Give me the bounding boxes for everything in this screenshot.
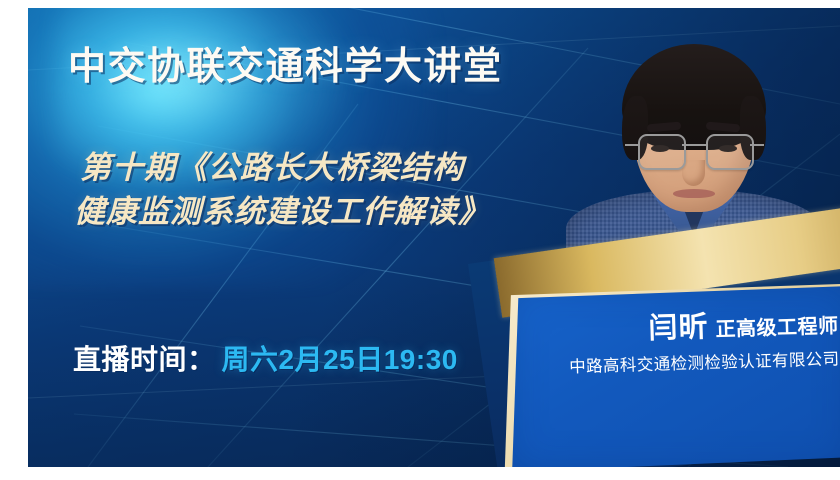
- live-time-label: 直播时间：: [73, 344, 216, 375]
- live-time-value: 周六2月25日19:30: [222, 344, 458, 375]
- speaker-role: 正高级工程师: [715, 315, 839, 341]
- episode-subtitle: 第十期《公路长大桥梁结构 健康监测系统建设工作解读》: [80, 146, 600, 234]
- portrait-mouth: [673, 189, 715, 198]
- panel-text-group: 闫昕正高级工程师 中路高科交通检测检验认证有限公司: [518, 293, 840, 463]
- glasses-lens-right-icon: [706, 134, 754, 170]
- episode-subtitle-line-1: 第十期《公路长大桥梁结构: [80, 146, 600, 190]
- poster-canvas: 中交协联交通科学大讲堂 第十期《公路长大桥梁结构 健康监测系统建设工作解读》 直…: [0, 0, 840, 480]
- page-title: 中交协联交通科学大讲堂: [68, 35, 503, 90]
- webinar-poster: 中交协联交通科学大讲堂 第十期《公路长大桥梁结构 健康监测系统建设工作解读》 直…: [28, 8, 840, 467]
- glasses-lens-left-icon: [638, 134, 686, 170]
- speaker-info-panel: 闫昕正高级工程师 中路高科交通检测检验认证有限公司: [500, 284, 840, 467]
- live-time: 直播时间：周六2月25日19:30: [73, 338, 458, 378]
- glasses-temple-right-icon: [750, 144, 764, 146]
- speaker-name-row: 闫昕正高级工程师: [518, 299, 840, 351]
- speaker-name: 闫昕: [648, 311, 709, 345]
- episode-subtitle-line-2: 健康监测系统建设工作解读》: [74, 190, 600, 234]
- speaker-company: 中路高科交通检测检验认证有限公司: [519, 345, 840, 379]
- glasses-bridge-icon: [682, 144, 706, 146]
- glasses-temple-left-icon: [625, 144, 639, 146]
